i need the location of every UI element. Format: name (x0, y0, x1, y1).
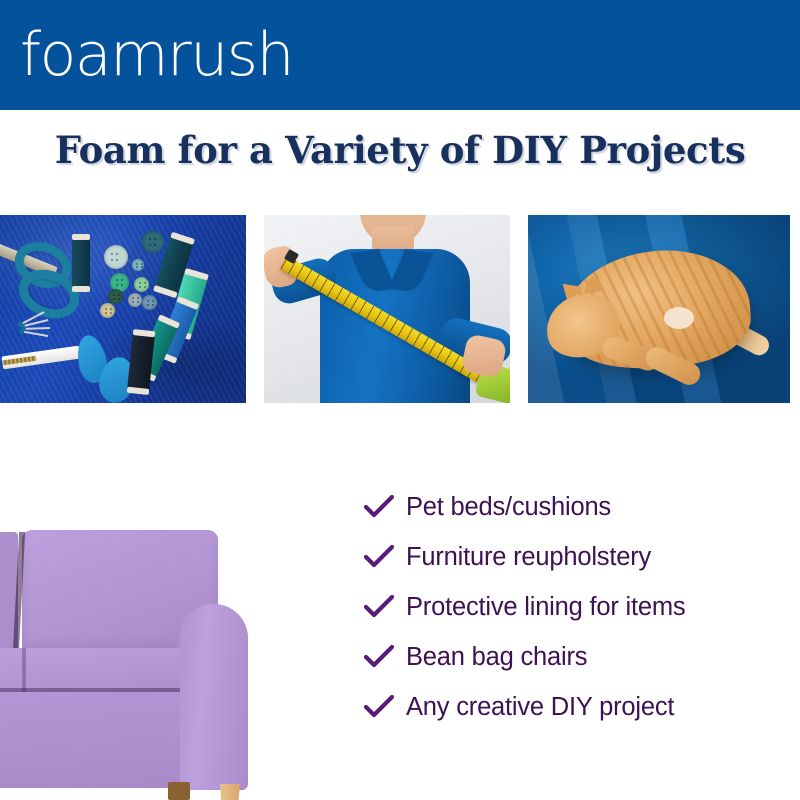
photo-strip (0, 215, 800, 403)
promo-graphic: foamrush Foam for a Variety of DIY Proje… (0, 0, 800, 800)
sofa-leg (168, 782, 190, 800)
button (100, 303, 115, 318)
sewing-supplies-photo (0, 215, 246, 403)
check-icon (364, 695, 406, 719)
list-item: Pet beds/cushions (364, 482, 784, 532)
list-item-label: Bean bag chairs (406, 643, 587, 672)
cat-white-patch (664, 307, 694, 329)
thread-spool (72, 237, 90, 289)
check-icon (364, 545, 406, 569)
cat-on-beanbag-photo (528, 215, 790, 403)
sofa-rolled-arm (180, 604, 248, 790)
list-item: Furniture reupholstery (364, 532, 784, 582)
button (132, 259, 144, 271)
purple-sofa-illustration (0, 530, 300, 800)
list-item-label: Any creative DIY project (406, 693, 674, 722)
button (128, 293, 142, 307)
sofa-seam (22, 648, 26, 692)
header-banner: foamrush (0, 0, 800, 110)
button (104, 245, 128, 269)
list-item-label: Protective lining for items (406, 593, 685, 622)
page-title: Foam for a Variety of DIY Projects (0, 128, 800, 172)
sofa-leg (220, 784, 240, 800)
cat-ear (581, 274, 605, 294)
list-item-label: Pet beds/cushions (406, 493, 611, 522)
list-item: Protective lining for items (364, 582, 784, 632)
check-icon (364, 645, 406, 669)
list-item: Bean bag chairs (364, 632, 784, 682)
list-item-label: Furniture reupholstery (406, 543, 651, 572)
check-icon (364, 595, 406, 619)
brand-logo[interactable]: foamrush (20, 22, 293, 88)
tape-measure-photo (264, 215, 510, 403)
list-item: Any creative DIY project (364, 682, 784, 732)
button (108, 289, 123, 304)
button (142, 231, 164, 253)
sofa-base (0, 692, 194, 788)
button (142, 295, 157, 310)
button (134, 277, 149, 292)
benefits-list: Pet beds/cushions Furniture reupholstery… (364, 482, 784, 732)
check-icon (364, 495, 406, 519)
